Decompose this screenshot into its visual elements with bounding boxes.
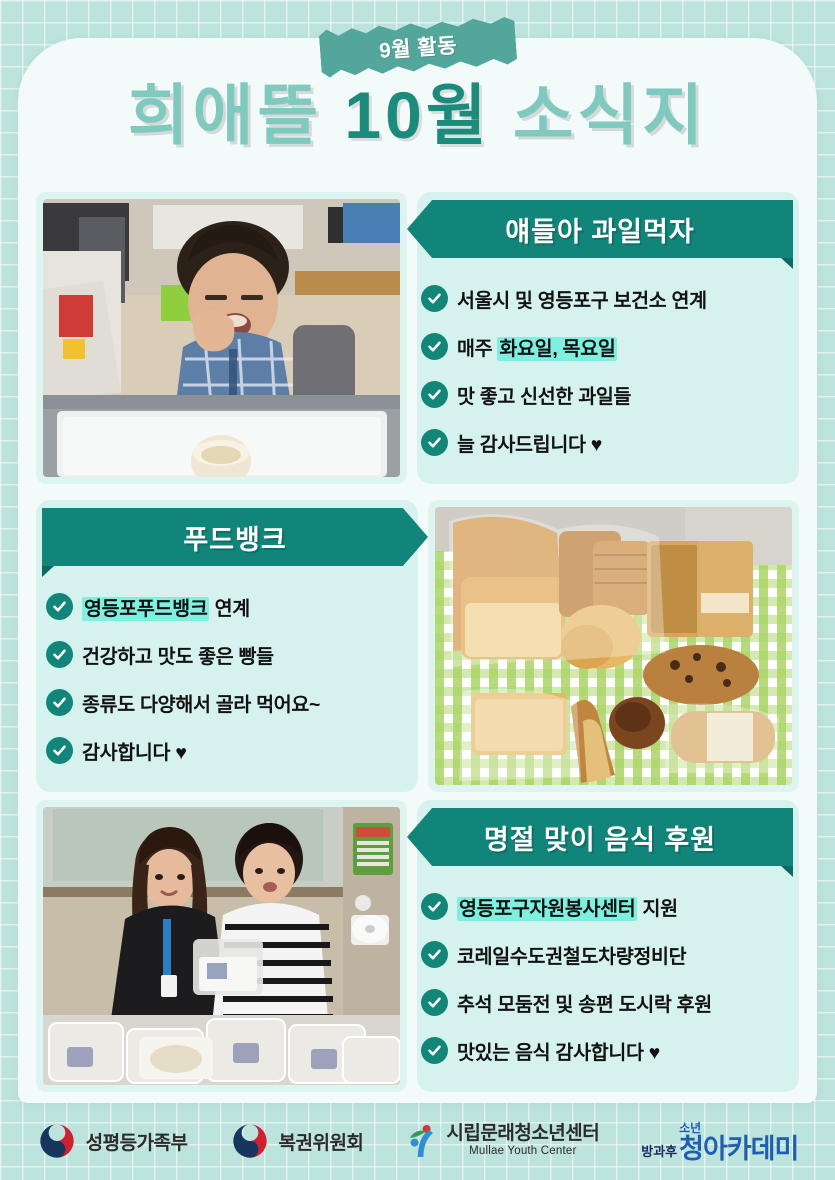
check-circle-icon [421, 429, 448, 456]
academy-wordmark: 방과후 소년 청아카데미 [641, 1119, 798, 1163]
bullet-text: 종류도 다양해서 골라 먹어요~ [82, 688, 320, 717]
bullet-post: 연계 [209, 598, 249, 620]
taegeuk-icon [230, 1121, 270, 1161]
bullet-text: 서울시 및 영등포구 보건소 연계 [457, 284, 707, 313]
bullet-pre: 맛 좋고 신선한 과일들 [457, 386, 631, 408]
footer-logos: 성평등가족부 복권위원회 시립문래청소년센터 Mullae Youth Cent… [0, 1102, 835, 1180]
academy-pre-label: 방과후 [641, 1141, 677, 1163]
bullet-pre: 감사합니다 ♥ [82, 742, 187, 764]
academy-main-2: 아카데미 [703, 1134, 798, 1164]
bread-donation-photo [435, 507, 792, 785]
bullet-list-holiday: 영등포구자원봉사센터 지원 코레일수도권철도차량정비단 추석 모둠전 및 송편 … [417, 876, 799, 1074]
check-circle-icon [46, 737, 73, 764]
logo-lottery-commission: 복권위원회 [230, 1121, 364, 1161]
check-circle-icon [421, 333, 448, 360]
section-heading-foodbank: 푸드뱅크 [183, 518, 286, 557]
academy-main-1: 청 [679, 1134, 703, 1164]
list-item: 종류도 다양해서 골라 먹어요~ [46, 678, 406, 726]
section-heading-banner-holiday: 명절 맞이 음식 후원 [407, 808, 793, 866]
check-circle-icon [421, 381, 448, 408]
holiday-food-donation-photo [43, 807, 400, 1085]
list-item: 영등포구자원봉사센터 지원 [421, 882, 787, 930]
section-heading-banner-fruit: 얘들아 과일먹자 [407, 200, 793, 258]
bullet-pre: 코레일수도권철도차량정비단 [457, 946, 686, 968]
mullae-mark-icon [405, 1123, 437, 1159]
title-part-2: 10월 [344, 78, 490, 152]
bullet-pre: 종류도 다양해서 골라 먹어요~ [82, 694, 320, 716]
list-item: 맛있는 음식 감사합니다 ♥ [421, 1026, 787, 1074]
bullet-text: 추석 모둠전 및 송편 도시락 후원 [457, 988, 712, 1017]
taegeuk-icon [37, 1121, 77, 1161]
logo-label: 성평등가족부 [86, 1128, 188, 1155]
list-item: 늘 감사드립니다 ♥ [421, 418, 787, 466]
section-foodbank: 푸드뱅크 영등포푸드뱅크 연계 건강하고 맛도 좋은 빵들 [36, 500, 799, 792]
section-heading-holiday: 명절 맞이 음식 후원 [484, 818, 716, 857]
bullet-text: 매주 화요일, 목요일 [457, 332, 617, 361]
bullet-highlight: 영등포구자원봉사센터 [457, 897, 637, 921]
check-circle-icon [421, 989, 448, 1016]
bullet-pre: 맛있는 음식 감사합니다 ♥ [457, 1042, 660, 1064]
text-card-foodbank: 푸드뱅크 영등포푸드뱅크 연계 건강하고 맛도 좋은 빵들 [36, 500, 418, 792]
fruit-eating-photo [43, 199, 400, 477]
newsletter-poster: { "badge": { "label": "9월 활동" }, "title"… [0, 0, 835, 1180]
title-part-3: 소식지 [513, 78, 707, 152]
check-circle-icon [421, 285, 448, 312]
photo-frame-foodbank [428, 500, 799, 792]
check-circle-icon [46, 689, 73, 716]
list-item: 영등포푸드뱅크 연계 [46, 582, 406, 630]
logo-mullae-youth-center: 시립문래청소년센터 Mullae Youth Center [405, 1123, 599, 1159]
bullet-list-fruit: 서울시 및 영등포구 보건소 연계 매주 화요일, 목요일 맛 좋고 신선한 과… [417, 268, 799, 466]
bullet-text: 감사합니다 ♥ [82, 736, 187, 765]
photo-frame-holiday [36, 800, 407, 1092]
section-heading-fruit: 얘들아 과일먹자 [505, 210, 694, 249]
bullet-text: 코레일수도권철도차량정비단 [457, 940, 686, 969]
section-fruit: 얘들아 과일먹자 서울시 및 영등포구 보건소 연계 매주 화요일, 목요일 [36, 192, 799, 484]
text-card-holiday: 명절 맞이 음식 후원 영등포구자원봉사센터 지원 코레일수도권철도차량정비단 [417, 800, 799, 1092]
list-item: 감사합니다 ♥ [46, 726, 406, 774]
academy-main-label: 청아카데미 [679, 1136, 798, 1163]
month-badge-label: 9월 활동 [378, 29, 458, 65]
logo-text-stack: 시립문래청소년센터 Mullae Youth Center [446, 1123, 599, 1158]
bullet-pre: 매주 [457, 338, 497, 360]
logo-label: 시립문래청소년센터 [446, 1123, 599, 1145]
section-holiday-food: 명절 맞이 음식 후원 영등포구자원봉사센터 지원 코레일수도권철도차량정비단 [36, 800, 799, 1092]
list-item: 서울시 및 영등포구 보건소 연계 [421, 274, 787, 322]
bullet-text: 건강하고 맛도 좋은 빵들 [82, 640, 274, 669]
list-item: 맛 좋고 신선한 과일들 [421, 370, 787, 418]
check-circle-icon [421, 941, 448, 968]
list-item: 추석 모둠전 및 송편 도시락 후원 [421, 978, 787, 1026]
bullet-pre: 건강하고 맛도 좋은 빵들 [82, 646, 274, 668]
section-heading-banner-foodbank: 푸드뱅크 [42, 508, 428, 566]
logo-sublabel: Mullae Youth Center [469, 1145, 576, 1158]
check-circle-icon [46, 593, 73, 620]
check-circle-icon [46, 641, 73, 668]
page-title: 희애뜰 10월 소식지 [0, 82, 835, 148]
list-item: 코레일수도권철도차량정비단 [421, 930, 787, 978]
check-circle-icon [421, 893, 448, 920]
bullet-list-foodbank: 영등포푸드뱅크 연계 건강하고 맛도 좋은 빵들 종류도 다양해서 골라 먹어요… [36, 576, 418, 774]
list-item: 매주 화요일, 목요일 [421, 322, 787, 370]
photo-frame-fruit [36, 192, 407, 484]
list-item: 건강하고 맛도 좋은 빵들 [46, 630, 406, 678]
bullet-text: 맛 좋고 신선한 과일들 [457, 380, 631, 409]
logo-after-school-academy: 방과후 소년 청아카데미 [641, 1119, 798, 1163]
bullet-pre: 늘 감사드립니다 ♥ [457, 434, 602, 456]
title-part-1: 희애뜰 [128, 78, 322, 152]
bullet-text: 맛있는 음식 감사합니다 ♥ [457, 1036, 660, 1065]
text-card-fruit: 얘들아 과일먹자 서울시 및 영등포구 보건소 연계 매주 화요일, 목요일 [417, 192, 799, 484]
bullet-post: 지원 [637, 898, 677, 920]
check-circle-icon [421, 1037, 448, 1064]
bullet-text: 영등포푸드뱅크 연계 [82, 592, 250, 621]
bullet-text: 늘 감사드립니다 ♥ [457, 428, 602, 457]
bullet-pre: 추석 모둠전 및 송편 도시락 후원 [457, 994, 712, 1016]
bullet-highlight: 화요일, 목요일 [497, 337, 617, 361]
logo-label: 복권위원회 [279, 1128, 364, 1155]
logo-ministry-gender-equality: 성평등가족부 [37, 1121, 188, 1161]
bullet-text: 영등포구자원봉사센터 지원 [457, 892, 678, 921]
academy-main-col: 소년 청아카데미 [679, 1119, 798, 1163]
bullet-highlight: 영등포푸드뱅크 [82, 597, 209, 621]
bullet-pre: 서울시 및 영등포구 보건소 연계 [457, 290, 707, 312]
